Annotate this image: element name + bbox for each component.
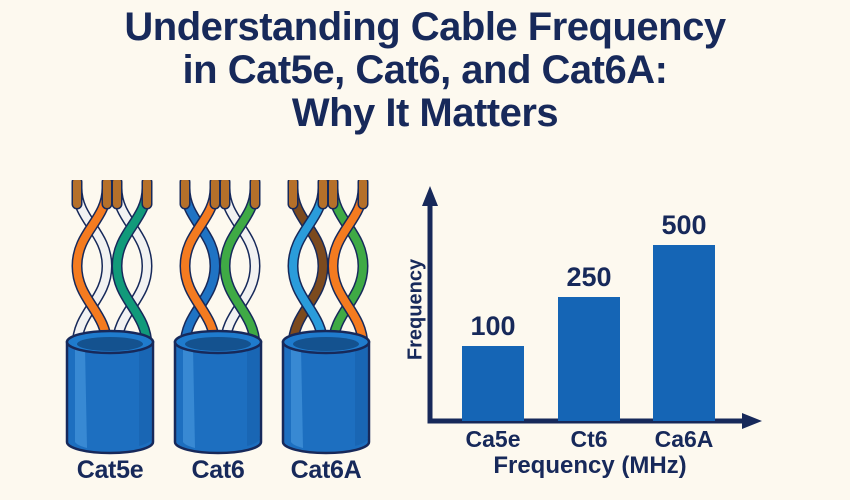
- cable-cat6a: Cat6A: [271, 180, 381, 485]
- cable-label-cat5e: Cat5e: [55, 456, 165, 485]
- bar-ca6a: [653, 245, 715, 421]
- title-line-3: Why It Matters: [0, 92, 850, 135]
- page-title: Understanding Cable Frequency in Cat5e, …: [0, 6, 850, 136]
- bar-value-ca5e: 100: [453, 311, 533, 342]
- cable-label-cat6: Cat6: [163, 456, 273, 485]
- y-axis-label: Frequency: [405, 250, 428, 370]
- jacket-cat6: [175, 331, 261, 453]
- poster-canvas: Understanding Cable Frequency in Cat5e, …: [0, 0, 850, 500]
- cable-cat5e: Cat5e: [55, 180, 165, 485]
- frequency-bar-chart: Frequency Frequency (MHz) 100 250 500 Ca…: [390, 180, 790, 485]
- x-tick-ct6: Ct6: [544, 426, 634, 453]
- jacket-cat5e: [67, 331, 153, 453]
- x-axis-label: Frequency (MHz): [390, 452, 790, 480]
- cable-label-cat6a: Cat6A: [271, 456, 381, 485]
- x-tick-ca6a: Ca6A: [639, 426, 729, 453]
- bar-value-ca6a: 500: [644, 210, 724, 241]
- bar-value-ct6: 250: [549, 262, 629, 293]
- cable-cat5e-graphic: [55, 180, 165, 460]
- bar-ct6: [558, 297, 620, 421]
- x-tick-ca5e: Ca5e: [448, 426, 538, 453]
- y-axis-arrow: [422, 186, 438, 206]
- cable-cat6a-graphic: [271, 180, 381, 460]
- x-axis-arrow: [742, 413, 762, 429]
- title-line-2: in Cat5e, Cat6, and Cat6A:: [0, 49, 850, 92]
- bar-ca5e: [462, 346, 524, 421]
- title-line-1: Understanding Cable Frequency: [0, 6, 850, 49]
- chart-plot-svg: [390, 180, 790, 450]
- cable-cat6: Cat6: [163, 180, 273, 485]
- cable-illustrations: Cat5e: [55, 180, 415, 485]
- jacket-cat6a: [283, 331, 369, 453]
- cable-cat6-graphic: [163, 180, 273, 460]
